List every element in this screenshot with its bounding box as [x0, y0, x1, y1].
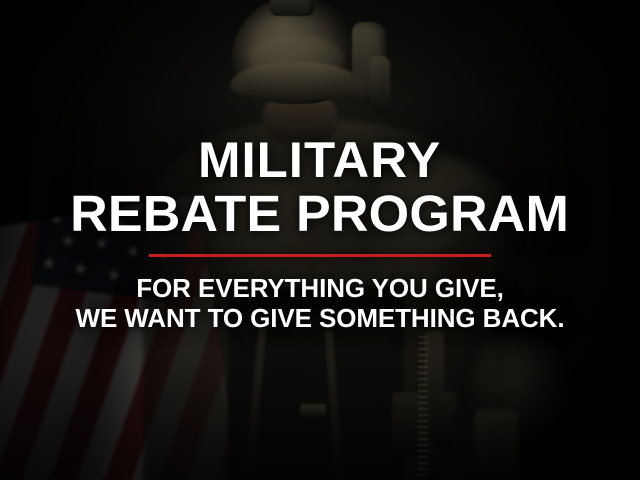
- subheadline-line-2: WE WANT TO GIVE SOMETHING BACK.: [76, 303, 565, 333]
- red-divider-rule: [149, 254, 491, 257]
- headline-line-2: REBATE PROGRAM: [70, 189, 569, 239]
- headline-line-1: MILITARY: [70, 136, 569, 186]
- military-rebate-program-banner: ★ ★ ★ ★ ★ ★ ★ ★ ★ ★ ★ ★: [0, 0, 640, 480]
- subheadline-line-1: FOR EVERYTHING YOU GIVE,: [76, 273, 565, 303]
- banner-text-overlay: MILITARY REBATE PROGRAM FOR EVERYTHING Y…: [0, 0, 640, 480]
- banner-subheadline: FOR EVERYTHING YOU GIVE, WE WANT TO GIVE…: [76, 273, 565, 333]
- banner-headline: MILITARY REBATE PROGRAM: [75, 136, 564, 239]
